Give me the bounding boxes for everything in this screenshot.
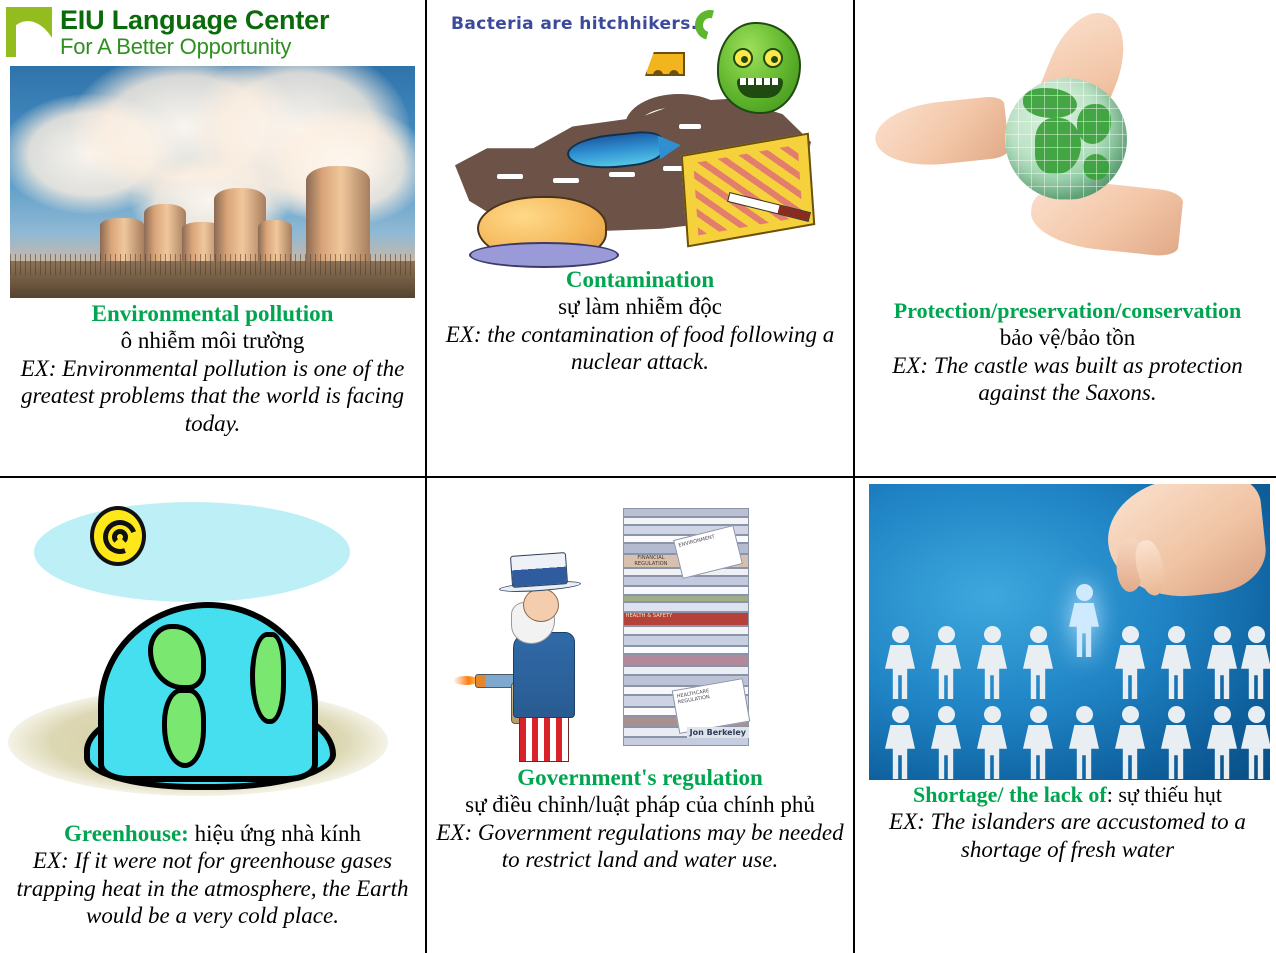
example-body: the contamination of food following a nu…	[487, 322, 834, 375]
brand-logo: EIU Language Center For A Better Opportu…	[0, 0, 425, 62]
head-shape	[523, 588, 559, 622]
person-icon	[1115, 706, 1145, 779]
person-icon	[1023, 626, 1053, 699]
person-icon	[885, 706, 915, 779]
example-prefix: EX:	[892, 353, 928, 378]
caption-shortage: Shortage/ the lack of: sự thiếu hụt EX: …	[855, 780, 1276, 953]
term-text: Contamination	[433, 266, 847, 293]
flashcard-greenhouse: Greenhouse: hiệu ứng nhà kính EX: If it …	[0, 478, 425, 953]
term-text: Government's regulation	[433, 764, 847, 791]
flashcard-contamination: Bacteria are hitchhikers. Co	[427, 0, 853, 476]
person-icon	[1241, 706, 1270, 779]
caption-government-regulation: Government's regulation sự điều chỉnh/lu…	[427, 762, 853, 953]
artist-signature: Jon Berkeley	[687, 727, 749, 738]
person-icon	[885, 626, 915, 699]
example-text: EX: Environmental pollution is one of th…	[6, 355, 419, 438]
person-icon	[1023, 706, 1053, 779]
striped-trousers-shape	[519, 712, 569, 762]
example-text: EX: The islanders are accustomed to a sh…	[861, 808, 1274, 863]
person-icon	[1207, 626, 1237, 699]
example-text: EX: the contamination of food following …	[433, 321, 847, 376]
hand-picking-shape	[1102, 484, 1269, 604]
logo-title: EIU Language Center	[60, 7, 329, 34]
germ-character-icon	[717, 22, 801, 114]
spiral-sun-icon	[90, 506, 146, 566]
term-text: Environmental pollution	[6, 300, 419, 327]
example-body: If it were not for greenhouse gases trap…	[16, 848, 408, 928]
vietnamese-text: ô nhiễm môi trường	[6, 327, 419, 355]
person-icon	[931, 706, 961, 779]
cooling-towers-photo	[10, 66, 415, 298]
example-prefix: EX:	[33, 848, 69, 873]
sky-ellipse-shape	[34, 502, 350, 602]
person-icon	[931, 626, 961, 699]
stack-label-health-safety: HEALTH & SAFETY	[625, 614, 673, 620]
logo-tagline: For A Better Opportunity	[60, 36, 329, 58]
melting-earth-clipart	[0, 488, 425, 818]
hand-picking-person-photo	[869, 484, 1270, 780]
term-text: Shortage/ the lack of: sự thiếu hụt	[861, 782, 1274, 808]
vietnamese-text: sự làm nhiễm độc	[433, 293, 847, 321]
example-body: The castle was built as protection again…	[934, 353, 1243, 406]
melting-globe-shape	[98, 602, 318, 782]
flashcard-protection: Protection/preservation/conservation bảo…	[855, 0, 1276, 476]
uncle-sam-regulation-stack-illustration: FINANCIAL REGULATION HEALTH & SAFETY	[427, 492, 853, 762]
term-text: Protection/preservation/conservation	[861, 298, 1274, 324]
caption-greenhouse: Greenhouse: hiệu ứng nhà kính EX: If it …	[0, 818, 425, 953]
person-icon	[1115, 626, 1145, 699]
vietnamese-text: sự thiếu hụt	[1118, 782, 1222, 807]
hand-left	[872, 95, 1010, 170]
person-icon	[1241, 626, 1270, 699]
paperwork-stack: FINANCIAL REGULATION HEALTH & SAFETY	[623, 502, 751, 746]
person-icon	[977, 626, 1007, 699]
person-icon	[1207, 706, 1237, 779]
flashcard-environmental-pollution: EIU Language Center For A Better Opportu…	[0, 0, 425, 476]
example-text: EX: Government regulations may be needed…	[433, 819, 847, 874]
hands-protecting-globe-photo	[855, 6, 1276, 296]
green-globe-icon	[1005, 78, 1127, 200]
flashcard-grid: EIU Language Center For A Better Opportu…	[0, 0, 1276, 953]
platter-shape	[469, 242, 619, 268]
arch-logo-icon	[6, 7, 52, 57]
example-prefix: EX:	[889, 809, 925, 834]
cheese-car-icon	[645, 52, 685, 76]
example-prefix: EX:	[21, 356, 57, 381]
person-icon	[1161, 626, 1191, 699]
stack-label-financial: FINANCIAL REGULATION	[625, 556, 677, 568]
person-icon-highlighted	[1069, 584, 1099, 657]
caption-protection: Protection/preservation/conservation bảo…	[855, 296, 1276, 476]
vietnamese-text: hiệu ứng nhà kính	[195, 821, 361, 846]
example-body: Environmental pollution is one of the gr…	[21, 356, 404, 436]
example-text: EX: The castle was built as protection a…	[861, 352, 1274, 407]
term-label: Greenhouse:	[64, 821, 189, 846]
example-text: EX: If it were not for greenhouse gases …	[6, 847, 419, 930]
term-text: Greenhouse: hiệu ứng nhà kính	[6, 820, 419, 847]
vietnamese-text: sự điều chỉnh/luật pháp của chính phủ	[433, 791, 847, 819]
cartoon-caption: Bacteria are hitchhikers.	[451, 14, 698, 34]
person-icon	[1161, 706, 1191, 779]
top-hat-shape	[510, 552, 568, 588]
vietnamese-text: bảo vệ/bảo tồn	[861, 324, 1274, 352]
caption-contamination: Contamination sự làm nhiễm độc EX: the c…	[427, 264, 853, 476]
example-body: The islanders are accustomed to a shorta…	[931, 809, 1246, 862]
caption-environmental-pollution: Environmental pollution ô nhiễm môi trườ…	[0, 298, 425, 476]
blue-coat-shape	[513, 632, 575, 718]
bacteria-hitchhiker-cartoon: Bacteria are hitchhikers.	[427, 6, 853, 264]
person-icon	[1069, 706, 1099, 779]
term-label: Shortage/ the lack of	[913, 782, 1107, 807]
person-icon	[977, 706, 1007, 779]
example-prefix: EX:	[436, 820, 472, 845]
flashcard-government-regulation: FINANCIAL REGULATION HEALTH & SAFETY	[427, 478, 853, 953]
flashcard-shortage: Shortage/ the lack of: sự thiếu hụt EX: …	[855, 478, 1276, 953]
example-body: Government regulations may be needed to …	[478, 820, 844, 873]
example-prefix: EX:	[446, 322, 482, 347]
